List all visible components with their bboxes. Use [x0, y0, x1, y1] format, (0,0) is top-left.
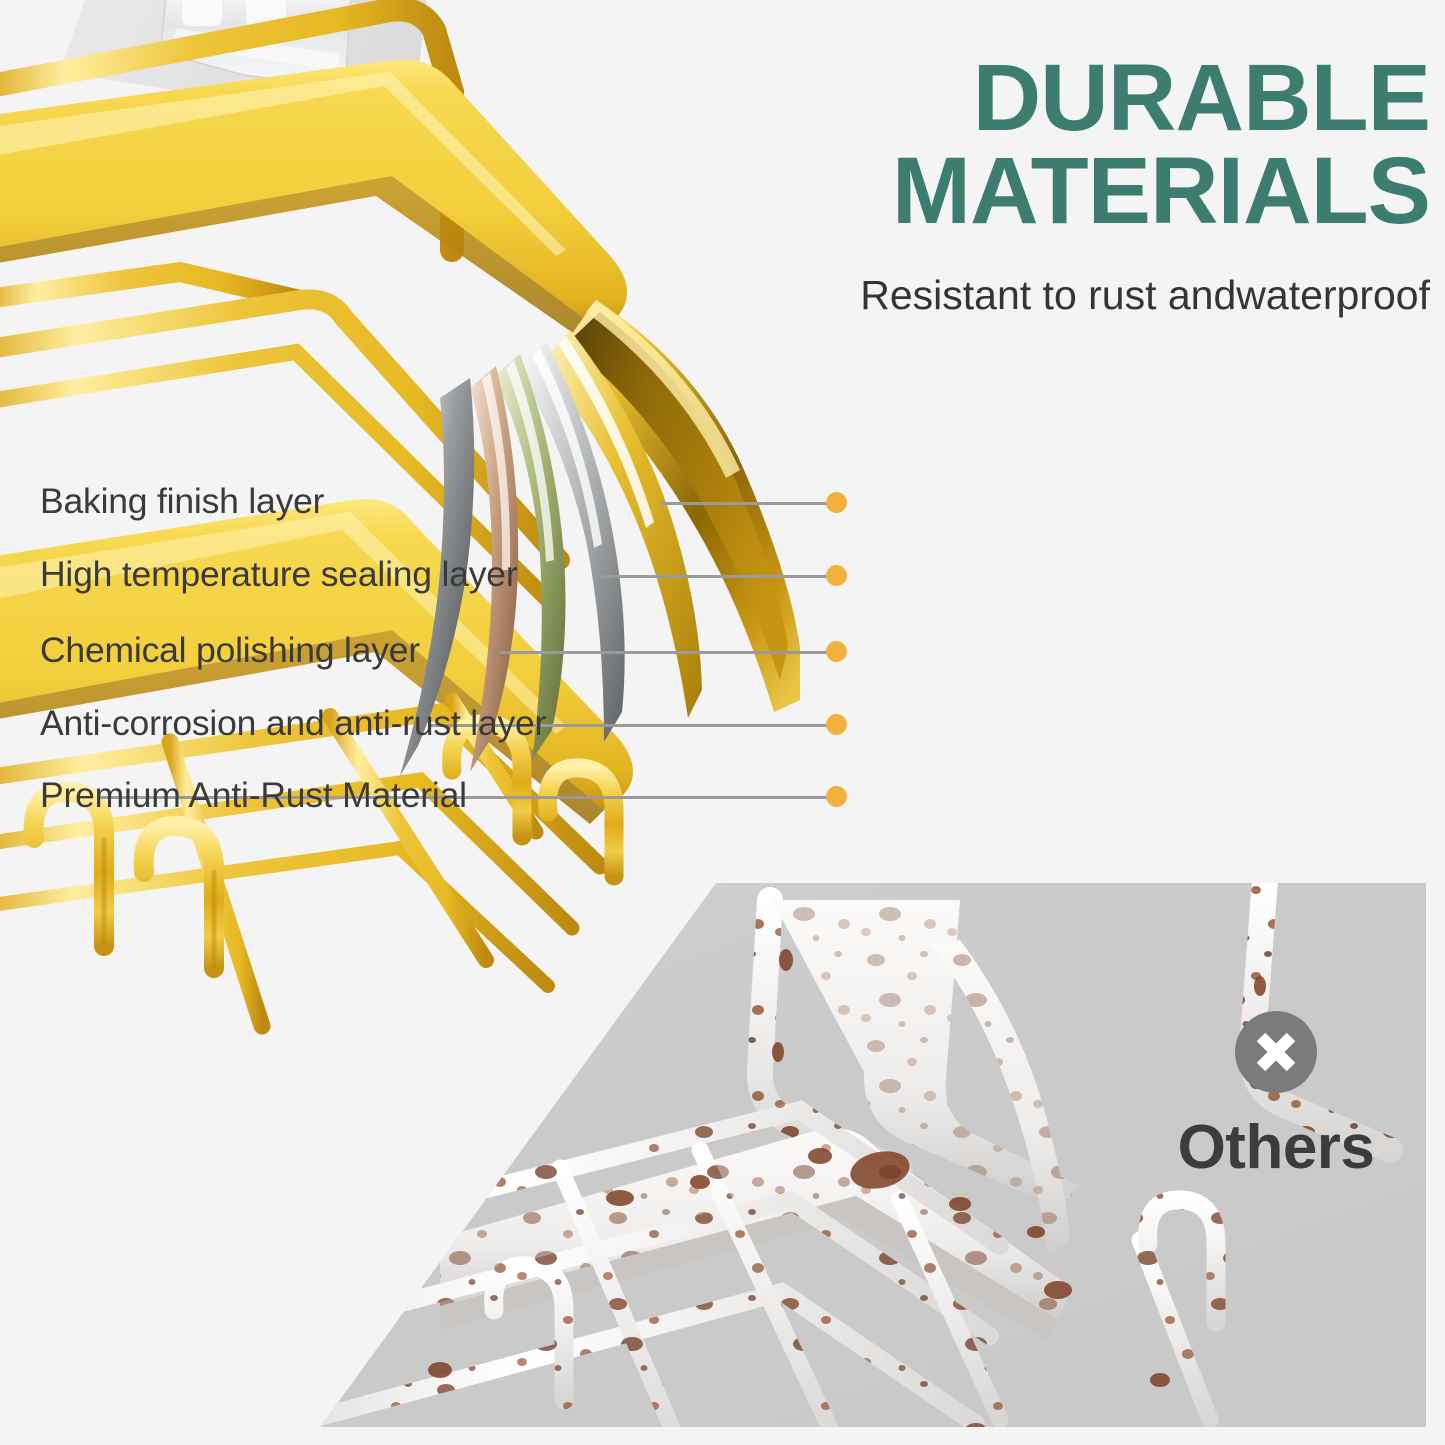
acrylic-adhesive-clip: [160, 0, 352, 80]
gold-hooks: [34, 792, 214, 968]
callout-label: High temperature sealing layer: [40, 554, 517, 595]
callout-label: Premium Anti-Rust Material: [40, 775, 467, 816]
subtitle: Resistant to rust andwaterproof: [700, 272, 1430, 319]
headline: DURABLE MATERIALS: [700, 52, 1430, 238]
leader-line: [660, 502, 828, 505]
callout-dot: [826, 786, 847, 807]
gold-front-plate: [0, 59, 627, 342]
headline-line-1: DURABLE: [700, 52, 1430, 145]
gold-wire-grid: [0, 700, 600, 1026]
callout-label: Anti-corrosion and anti-rust layer: [40, 703, 546, 744]
callout-dot: [826, 714, 847, 735]
leader-line: [600, 575, 828, 578]
leader-line: [500, 651, 828, 654]
headline-line-2: MATERIALS: [700, 145, 1430, 238]
gold-u-loops: [452, 724, 614, 876]
callout-dot: [826, 492, 847, 513]
gold-back-rail: [0, 9, 452, 250]
others-label: Others: [1150, 1112, 1402, 1183]
x-mark-icon: [1235, 1011, 1317, 1093]
infographic-canvas: DURABLE MATERIALS Resistant to rust andw…: [0, 0, 1445, 1445]
gold-hook-shadow: [104, 838, 214, 968]
gold-rail-mid: [0, 272, 300, 300]
callout-dot: [826, 565, 847, 586]
callout-label: Chemical polishing layer: [40, 630, 420, 671]
callout-label: Baking finish layer: [40, 481, 324, 522]
callout-dot: [826, 641, 847, 662]
wall-mount-plate: [60, 0, 430, 128]
